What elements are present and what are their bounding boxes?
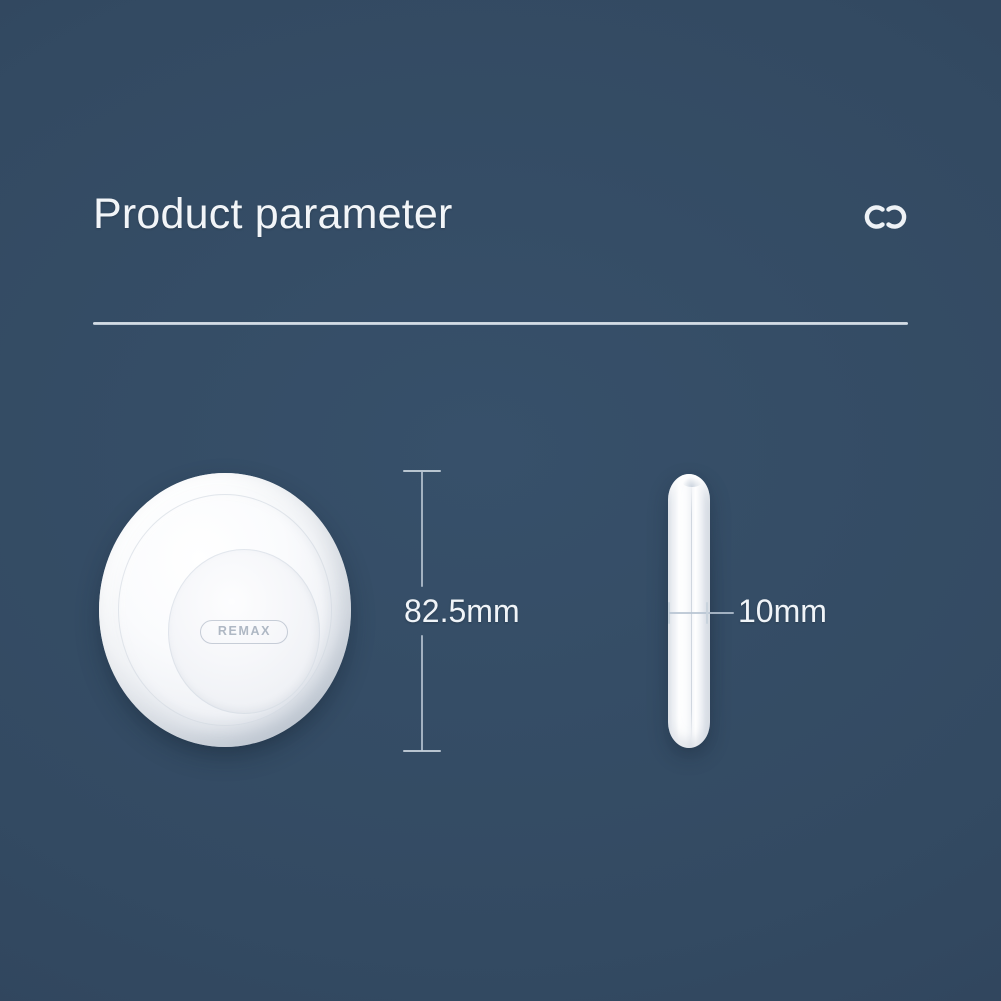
dimension-line-leader xyxy=(708,612,734,614)
remax-logo-text: REMAX xyxy=(217,625,271,638)
double-ring-logo xyxy=(857,196,915,238)
dimension-line-upper xyxy=(421,471,423,587)
diameter-label: 82.5mm xyxy=(404,593,520,630)
thickness-label: 10mm xyxy=(738,593,827,630)
thickness-dimension-line xyxy=(664,602,736,624)
wireless-charging-pad: REMAX xyxy=(99,473,352,748)
page-title: Product parameter xyxy=(93,190,453,239)
header-divider xyxy=(93,322,908,325)
product-parameter-slide: Product parameter REMAX xyxy=(0,0,1001,1001)
pad-charging-surface: REMAX xyxy=(168,549,320,714)
dimension-line-inner xyxy=(669,612,707,614)
dimension-cap-bottom xyxy=(403,750,441,752)
pad-inner-rim: REMAX xyxy=(118,494,332,726)
pad-outer-body: REMAX xyxy=(99,473,351,747)
dimension-line-lower xyxy=(421,635,423,751)
remax-logo-badge: REMAX xyxy=(200,620,288,644)
